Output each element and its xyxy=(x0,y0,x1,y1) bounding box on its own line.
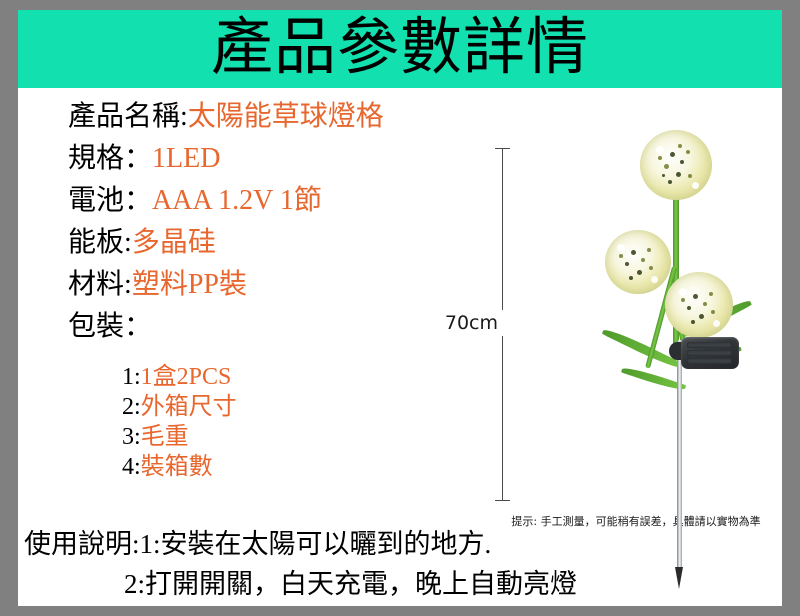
package-item-text: 外箱尺寸 xyxy=(141,394,237,420)
ground-stake-pole xyxy=(677,340,682,570)
spec-value: 太陽能草球燈格 xyxy=(188,101,384,132)
package-item: 2:外箱尺寸 xyxy=(122,392,442,422)
spec-list: 產品名稱:太陽能草球燈格 規格：1LED 電池：AAA 1.2V 1節 能板:多… xyxy=(68,96,468,348)
spec-separator: ： xyxy=(124,185,152,216)
package-item-number: 3: xyxy=(122,424,141,450)
measurement-note: 提示: 手工測量，可能稍有誤差，具體請以實物為準 xyxy=(490,515,782,529)
spec-value: 多晶硅 xyxy=(132,227,216,258)
ground-stake-tip xyxy=(675,567,683,589)
spec-row: 規格：1LED xyxy=(68,138,468,180)
spec-row: 產品名稱:太陽能草球燈格 xyxy=(68,96,468,138)
spec-label: 能 xyxy=(68,227,96,258)
spec-separator: : xyxy=(180,101,188,132)
spec-separator: ： xyxy=(124,311,152,342)
spec-label: 材 xyxy=(68,269,96,300)
package-item-number: 1: xyxy=(122,364,141,390)
package-item: 4:裝箱數 xyxy=(122,452,442,482)
solar-cell xyxy=(687,342,732,348)
dimension-label: 70cm xyxy=(436,312,501,334)
spec-row: 包裝： xyxy=(68,306,468,348)
flower-ball-left xyxy=(605,230,671,294)
spec-label-end: 板 xyxy=(96,227,124,258)
solar-panel xyxy=(681,337,739,369)
spec-row: 能板:多晶硅 xyxy=(68,222,468,264)
spec-label: 規 xyxy=(68,143,96,174)
flower-ball-right xyxy=(665,272,733,338)
product-photo xyxy=(593,115,778,510)
package-item: 3:毛重 xyxy=(122,422,442,452)
solar-cell xyxy=(687,350,732,356)
page-title: 產品參數詳情 xyxy=(18,10,782,88)
usage-line-2: 2:打開開關，白天充電，晚上自動亮燈 xyxy=(24,564,624,604)
header-banner: 產品參數詳情 xyxy=(18,10,782,88)
spec-label-end: 格 xyxy=(96,143,124,174)
dimension-marker: 70cm xyxy=(473,140,583,520)
solar-cell xyxy=(687,358,732,364)
spec-label: 產品名稱 xyxy=(68,101,180,132)
spec-separator: ： xyxy=(124,143,152,174)
package-item: 1:1盒2PCS xyxy=(122,362,442,392)
dimension-cap-bottom xyxy=(495,500,510,501)
spec-label: 包 xyxy=(68,311,96,342)
spec-label-end: 料 xyxy=(96,269,124,300)
package-item-number: 4: xyxy=(122,454,141,480)
usage-instructions: 使用說明:1:安裝在太陽可以曬到的地方. 2:打開開關，白天充電，晚上自動亮燈 xyxy=(24,524,624,604)
package-item-text: 毛重 xyxy=(141,424,189,450)
spec-label-end: 裝 xyxy=(96,311,124,342)
flower-ball-top xyxy=(640,130,712,200)
dimension-cap-top xyxy=(495,148,510,149)
product-spec-page: 產品參數詳情 產品名稱:太陽能草球燈格 規格：1LED 電池：AAA 1.2V … xyxy=(18,10,782,606)
package-item-list: 1:1盒2PCS 2:外箱尺寸 3:毛重 4:裝箱數 xyxy=(122,362,442,482)
package-item-text: 裝箱數 xyxy=(141,454,213,480)
spec-value: AAA 1.2V 1節 xyxy=(152,185,322,216)
spec-value: 1LED xyxy=(152,143,220,174)
spec-label: 電 xyxy=(68,185,96,216)
spec-label-end: 池 xyxy=(96,185,124,216)
spec-separator: : xyxy=(124,227,132,258)
usage-line-1: 使用說明:1:安裝在太陽可以曬到的地方. xyxy=(24,524,624,564)
spec-row: 材料:塑料PP裝 xyxy=(68,264,468,306)
spec-separator: : xyxy=(124,269,132,300)
package-item-text: 1盒2PCS xyxy=(141,364,232,390)
package-item-number: 2: xyxy=(122,394,141,420)
spec-value: 塑料PP裝 xyxy=(132,269,247,300)
spec-row: 電池：AAA 1.2V 1節 xyxy=(68,180,468,222)
